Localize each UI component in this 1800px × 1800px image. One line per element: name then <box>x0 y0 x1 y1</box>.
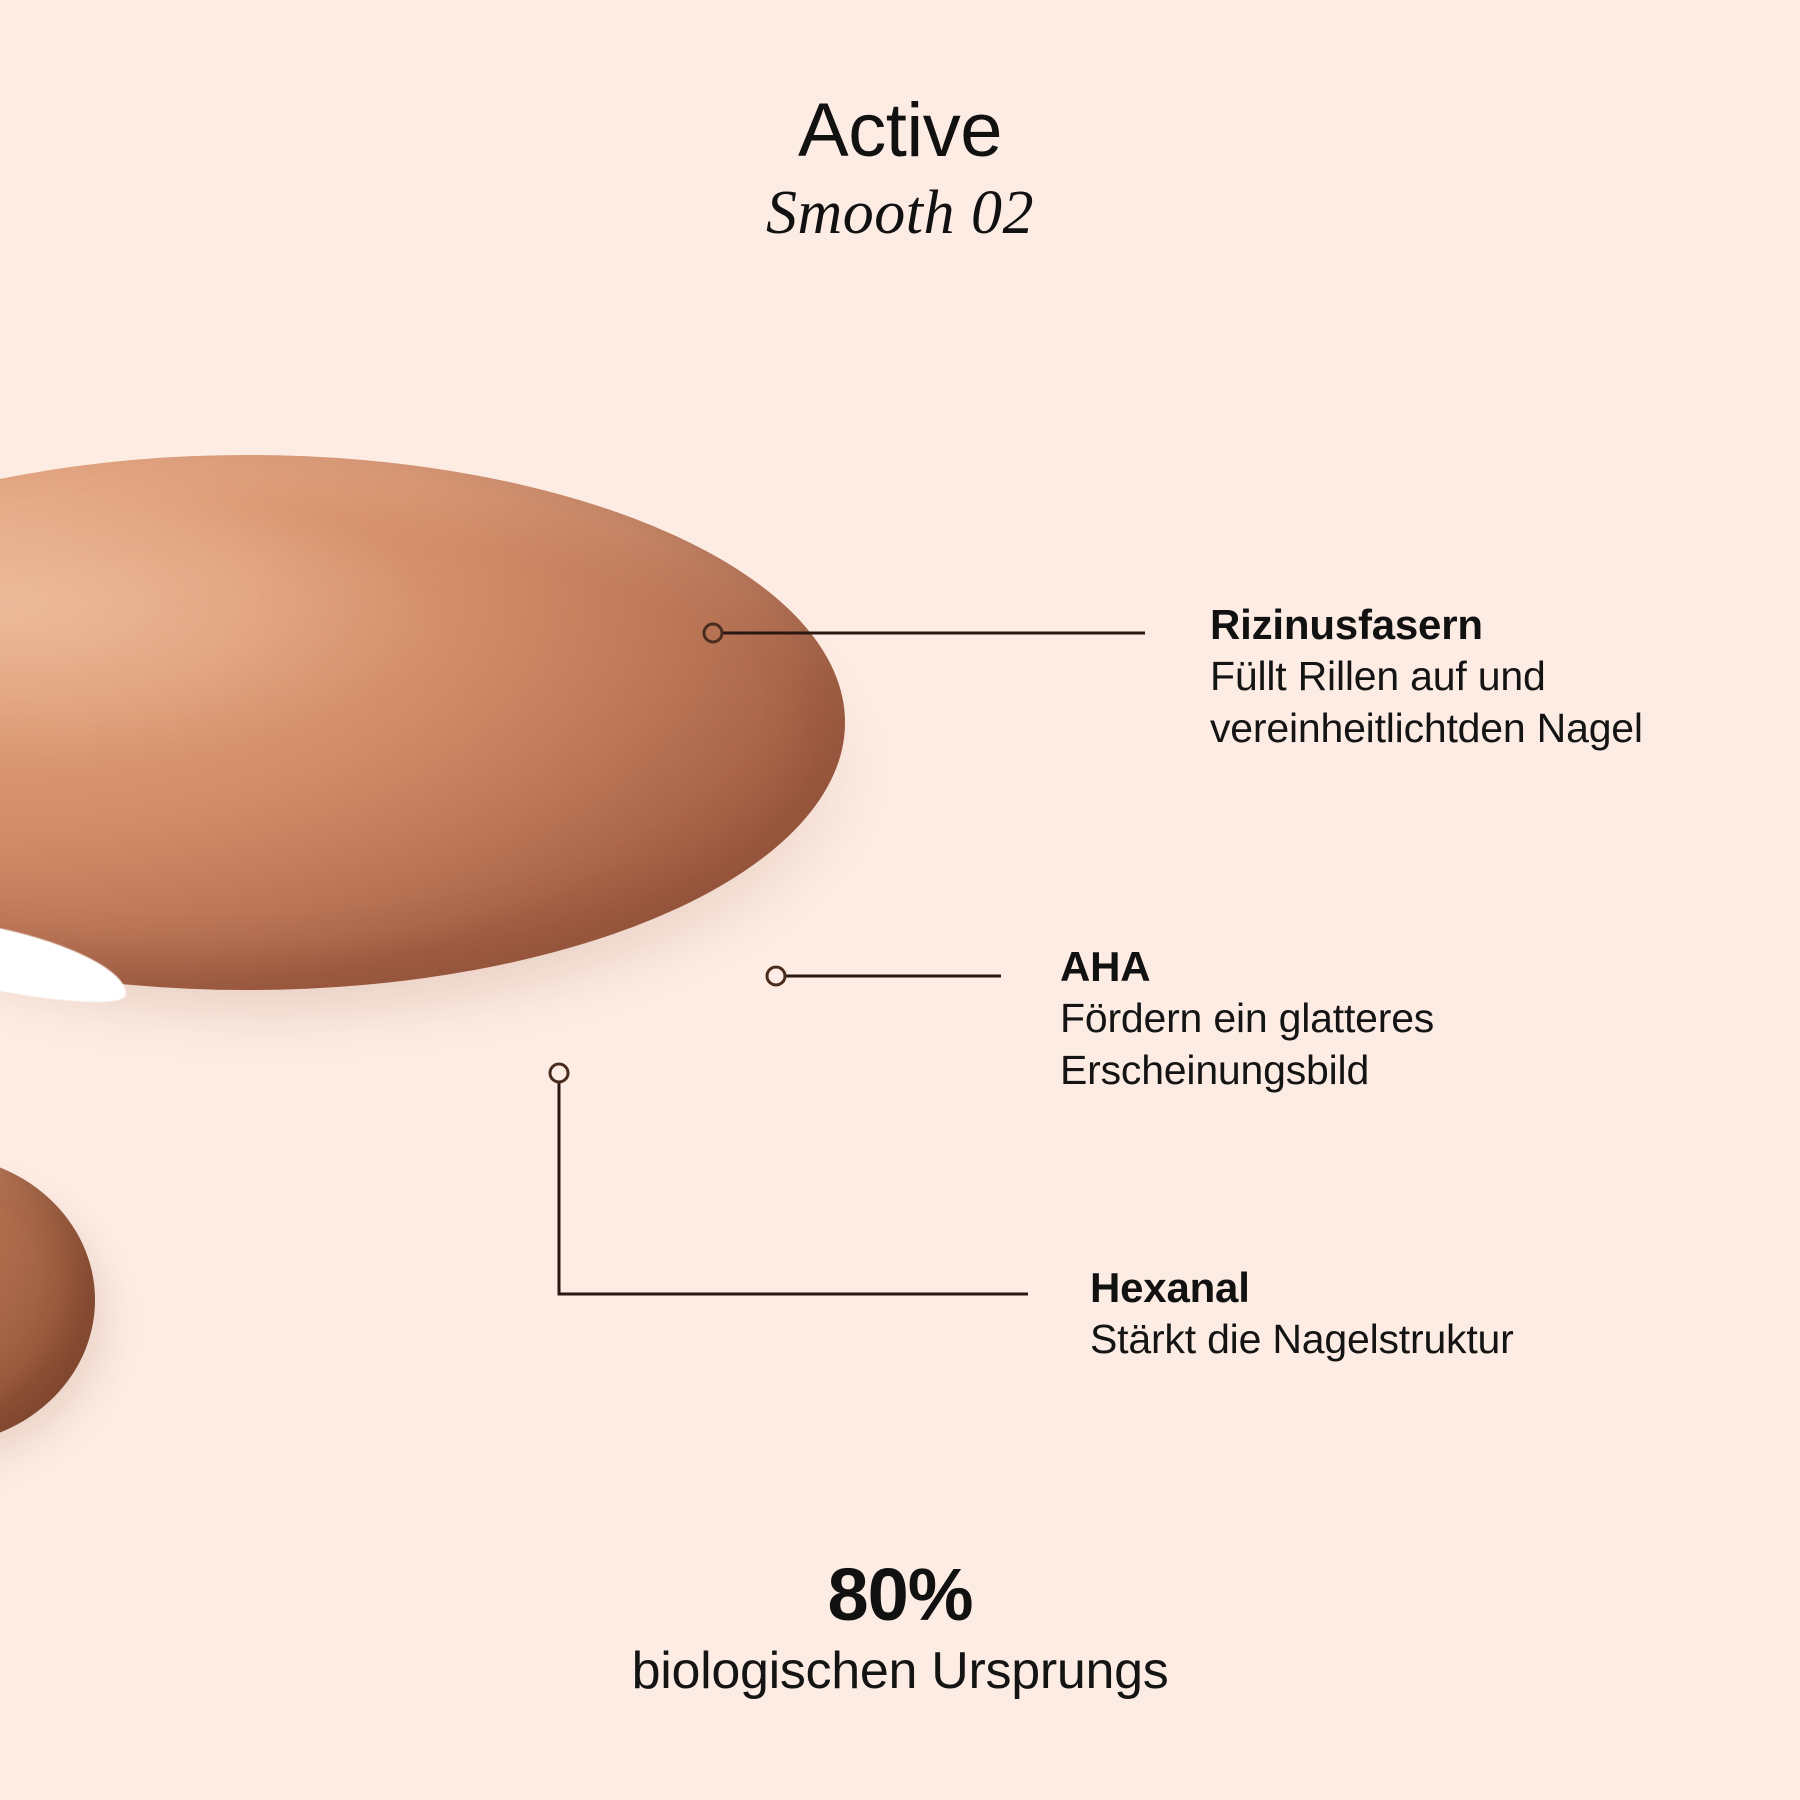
callout-description: Stärkt die Nagelstruktur <box>1090 1313 1514 1365</box>
callout-description: Füllt Rillen auf und vereinheitlichtden … <box>1210 650 1643 755</box>
leader-line-hexanal <box>550 1064 1028 1294</box>
footer: 80% biologischen Ursprungs <box>0 1556 1800 1702</box>
leader-line-aha <box>767 967 1001 985</box>
organic-percentage: 80% <box>0 1556 1800 1634</box>
leader-line-rizinusfasern <box>704 624 1145 642</box>
circle-marker-icon <box>767 967 785 985</box>
callout-title: AHA <box>1060 942 1434 992</box>
infographic-canvas: Active Smooth 02 Rizinusfasern Füllt Ril… <box>0 0 1800 1800</box>
circle-marker-icon <box>704 624 722 642</box>
callout-title: Rizinusfasern <box>1210 600 1643 650</box>
circle-marker-icon <box>550 1064 568 1082</box>
callout-rizinusfasern: Rizinusfasern Füllt Rillen auf und verei… <box>1210 600 1643 754</box>
callout-description: Fördern ein glatteres Erscheinungsbild <box>1060 992 1434 1097</box>
callout-hexanal: Hexanal Stärkt die Nagelstruktur <box>1090 1263 1514 1365</box>
callout-title: Hexanal <box>1090 1263 1514 1313</box>
leader-lines <box>0 0 1800 1800</box>
organic-caption: biologischen Ursprungs <box>0 1640 1800 1702</box>
leader-segment <box>559 1082 1028 1294</box>
callout-aha: AHA Fördern ein glatteres Erscheinungsbi… <box>1060 942 1434 1096</box>
